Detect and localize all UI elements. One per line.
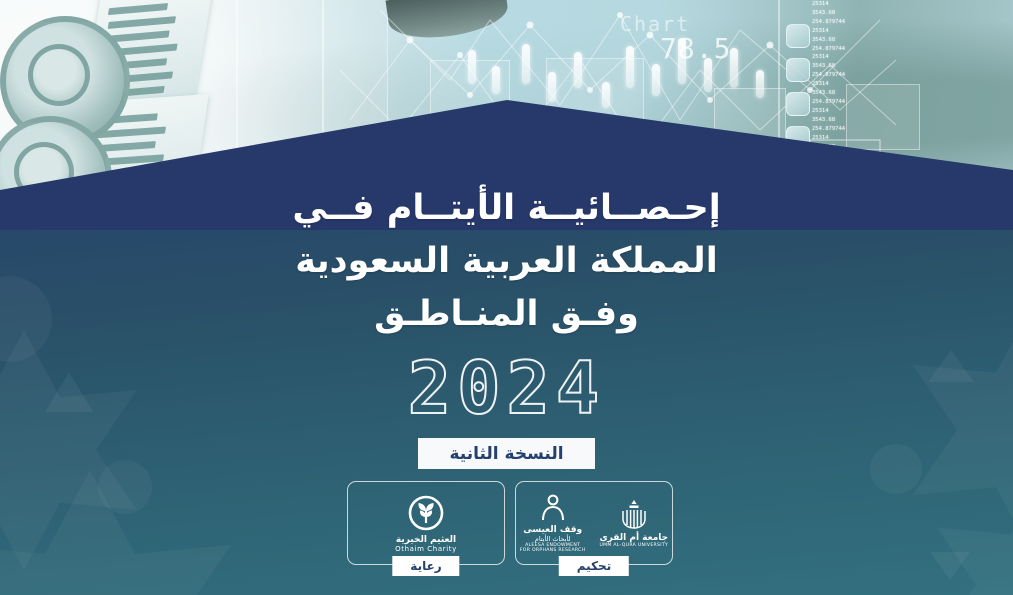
title-line-1: إحـصــائيــة الأيتــام فــي: [0, 182, 1013, 235]
review-logo-box[interactable]: وقف العيسى لأبحاث الأيتام ALEESA ENDOWME…: [515, 481, 673, 565]
page-title: إحـصــائيــة الأيتــام فــي المملكة العر…: [0, 182, 1013, 342]
readout-line: 254.879744: [812, 18, 932, 27]
watermark-circle: [870, 444, 922, 494]
edition-badge-label: النسخة الثانية: [449, 444, 563, 464]
readout-line: 25314: [812, 107, 932, 116]
year-text: 2024: [0, 346, 1013, 430]
readout-line: 254.879744: [812, 98, 932, 107]
watermark-hexstar: [0, 470, 240, 595]
umm-al-qura-name-ar: جامعة أم القرى: [599, 533, 668, 543]
report-cover-page: Chart 78.5 253143543.68254.8797442531435…: [0, 0, 1013, 595]
readout-line: 25314: [812, 27, 932, 36]
aleesa-endowment-logo: وقف العيسى لأبحاث الأيتام ALEESA ENDOWME…: [513, 494, 593, 553]
watermark-circle: [98, 460, 152, 514]
title-line-2: المملكة العربية السعودية: [0, 235, 1013, 288]
sponsor-role-tab: رعاية: [392, 556, 459, 576]
aleesa-name-ar: وقف العيسى: [523, 525, 582, 535]
keypad-block: [786, 24, 810, 48]
readout-line: 254.879744: [812, 71, 932, 80]
othaim-leaf-circle-icon: [407, 494, 445, 532]
title-line-3: وفـق المنـاطـق: [0, 288, 1013, 341]
sponsor-logo-box[interactable]: العثيم الخيرية Othaim Charity رعاية: [347, 481, 505, 565]
aleesa-endowment-icon: [537, 494, 569, 522]
readout-line: 254.879744: [812, 45, 932, 54]
umm-al-qura-logo: جامعة أم القرى UMM AL-QURA UNIVERSITY: [592, 498, 675, 548]
banner-value-text: 78.5: [660, 32, 731, 65]
keypad-block: [786, 58, 810, 82]
umm-al-qura-emblem-icon: [619, 498, 649, 530]
readout-line: 25314: [812, 53, 932, 62]
numeric-readout: 253143543.68254.879744253143543.68254.87…: [812, 0, 932, 151]
aleesa-subtitle-ar: لأبحاث الأيتام: [535, 535, 571, 543]
readout-line: 25314: [812, 80, 932, 89]
aleesa-subtitle-en: FOR ORPHANS RESEARCH: [520, 548, 586, 553]
readout-line: 3543.68: [812, 36, 932, 45]
review-role-tab: تحكيم: [559, 556, 629, 576]
umm-al-qura-name-en: UMM AL-QURA UNIVERSITY: [599, 543, 668, 548]
readout-line: 254.879744: [812, 125, 932, 134]
othaim-name-en: Othaim Charity: [395, 545, 457, 553]
readout-line: 3543.68: [812, 62, 932, 71]
othaim-charity-logo: العثيم الخيرية Othaim Charity: [388, 494, 464, 553]
readout-line: 25314: [812, 134, 932, 143]
keypad-block: [786, 92, 810, 116]
watermark-hexstar: [930, 470, 1013, 595]
othaim-name-ar: العثيم الخيرية: [396, 535, 456, 545]
readout-line: 25314: [812, 0, 932, 9]
readout-line: 3543.68: [812, 116, 932, 125]
partner-logos: العثيم الخيرية Othaim Charity رعاية وقف …: [347, 481, 673, 565]
edition-badge: النسخة الثانية: [418, 438, 595, 469]
readout-line: 3543.68: [812, 89, 932, 98]
readout-line: 3543.68: [812, 9, 932, 18]
watermark-triangle-down: [930, 552, 970, 580]
